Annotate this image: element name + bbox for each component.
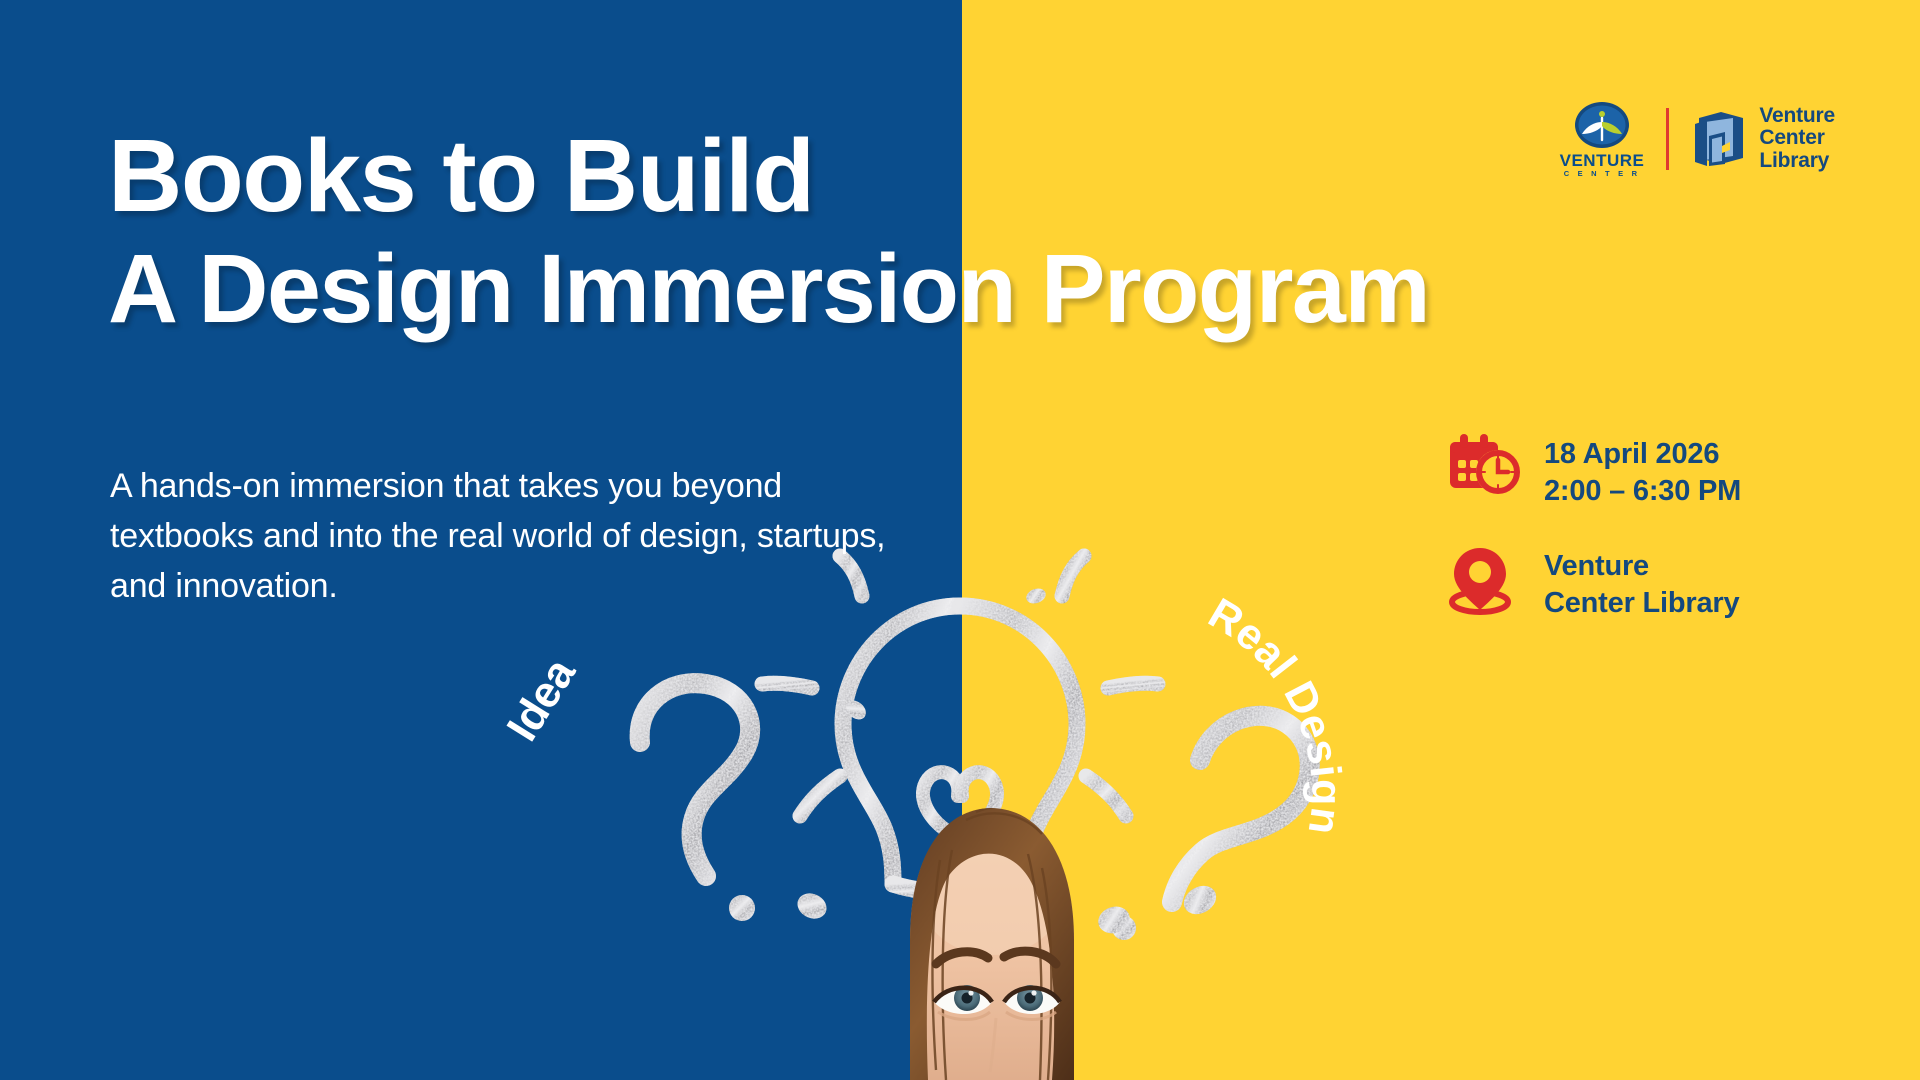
venture-center-library-wordmark: Venture Center Library [1759, 105, 1835, 173]
venture-center-library-logo: Venture Center Library [1691, 105, 1835, 173]
vcl-line-1: Venture [1759, 105, 1835, 128]
headline: Books to Build A Design Immersion Progra… [108, 118, 1429, 344]
event-venue-row: Venture Center Library [1448, 544, 1848, 622]
event-date-text: 18 April 2026 2:00 – 6:30 PM [1544, 432, 1741, 510]
vcl-line-2: Center [1759, 127, 1835, 150]
location-pin-icon [1448, 544, 1522, 616]
venture-center-logo: VENTURE C E N T E R [1560, 100, 1645, 178]
venture-center-submark: C E N T E R [1564, 170, 1640, 178]
event-info-block: 18 April 2026 2:00 – 6:30 PM Venture Cen… [1448, 432, 1848, 656]
logo-bar: VENTURE C E N T E R Venture Center Libra… [1560, 100, 1835, 178]
woman-looking-up-photo [790, 750, 1190, 1080]
event-date-row: 18 April 2026 2:00 – 6:30 PM [1448, 432, 1848, 510]
real-design-label-wrap: Real Design [1190, 610, 1490, 910]
logo-divider [1666, 108, 1669, 170]
headline-line-1: Books to Build [108, 118, 1429, 234]
real-design-label: Real Design [1200, 589, 1350, 838]
poster-canvas: Books to Build A Design Immersion Progra… [0, 0, 1920, 1080]
venue-line-1: Venture [1544, 548, 1739, 585]
calendar-clock-icon [1448, 432, 1522, 498]
venue-line-2: Center Library [1544, 585, 1739, 622]
subtitle-paragraph: A hands-on immersion that takes you beyo… [110, 462, 930, 612]
vcl-line-3: Library [1759, 150, 1835, 173]
real-design-textpath: Real Design [1200, 589, 1350, 838]
venture-center-oval-icon [1572, 100, 1632, 150]
headline-line-2: A Design Immersion Program [108, 234, 1429, 344]
venture-center-wordmark: VENTURE [1560, 152, 1645, 169]
event-venue-text: Venture Center Library [1544, 544, 1739, 622]
event-time: 2:00 – 6:30 PM [1544, 473, 1741, 510]
event-date: 18 April 2026 [1544, 436, 1741, 473]
open-book-icon [1691, 108, 1747, 170]
